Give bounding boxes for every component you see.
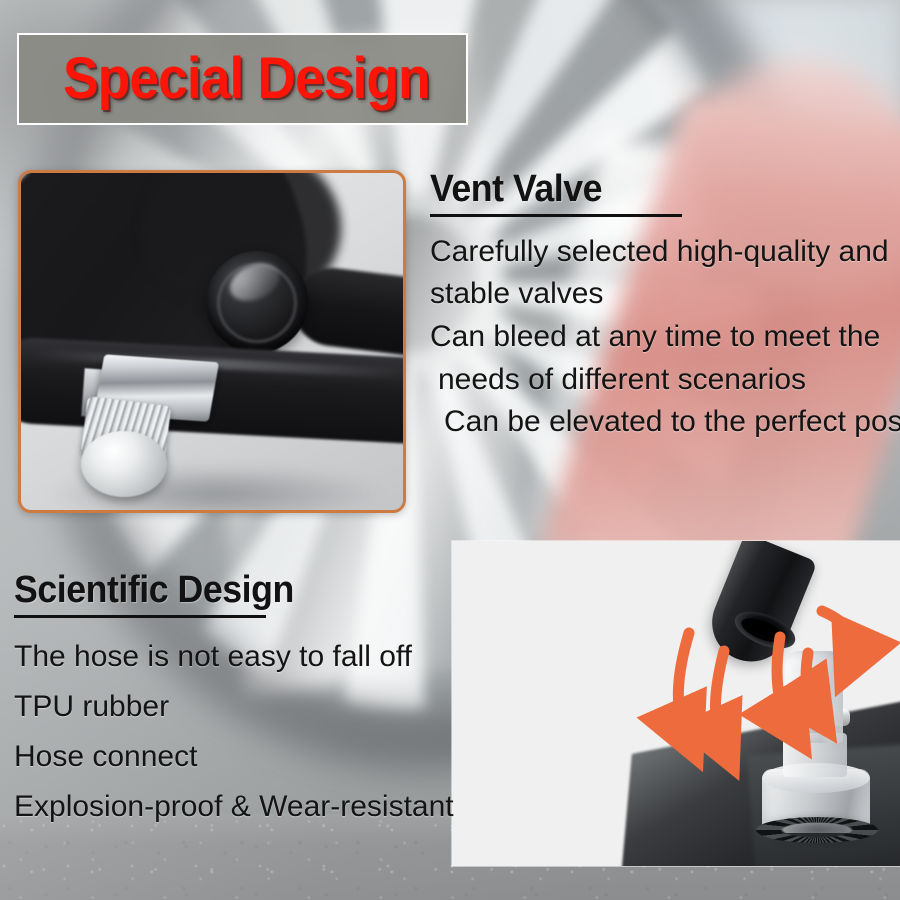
vent-valve-feature-list: Carefully selected high-quality and stab…	[430, 231, 892, 444]
airflow-diagram-inset	[452, 541, 900, 866]
white-knob	[81, 431, 167, 497]
product-photo-inset	[18, 170, 406, 513]
special-design-banner: Special Design	[17, 33, 468, 125]
airflow-arrow-5	[822, 611, 855, 659]
airflow-arrow-3	[777, 637, 790, 724]
airflow-arrow-4	[806, 653, 814, 709]
feature-line: Can be elevated to the perfect position	[430, 401, 892, 444]
feature-line: needs of different scenarios	[430, 359, 892, 402]
vent-valve-section: Vent Valve Carefully selected high-quali…	[430, 170, 892, 444]
scientific-design-feature-list: The hose is not easy to fall off TPU rub…	[14, 632, 454, 832]
vent-valve-heading: Vent Valve	[430, 170, 864, 209]
scientific-design-section: Scientific Design The hose is not easy t…	[14, 571, 454, 832]
vent-valve-underline	[430, 214, 682, 217]
feature-line: Carefully selected high-quality and	[430, 231, 892, 274]
feature-line: The hose is not easy to fall off	[14, 632, 454, 682]
scientific-design-underline	[14, 615, 266, 618]
feature-line: Explosion-proof & Wear-resistant	[14, 782, 454, 832]
feature-line: Can bleed at any time to meet the	[430, 316, 892, 359]
feature-line: Hose connect	[14, 732, 454, 782]
airflow-arrow-2	[715, 651, 724, 743]
scientific-design-heading: Scientific Design	[14, 571, 428, 610]
airflow-arrows-group	[452, 541, 900, 866]
airflow-arrow-1	[678, 633, 689, 734]
feature-line: stable valves	[430, 273, 892, 316]
product-marketing-image: Special Design	[0, 0, 900, 900]
feature-line: TPU rubber	[14, 682, 454, 732]
banner-title: Special Design	[63, 50, 430, 108]
